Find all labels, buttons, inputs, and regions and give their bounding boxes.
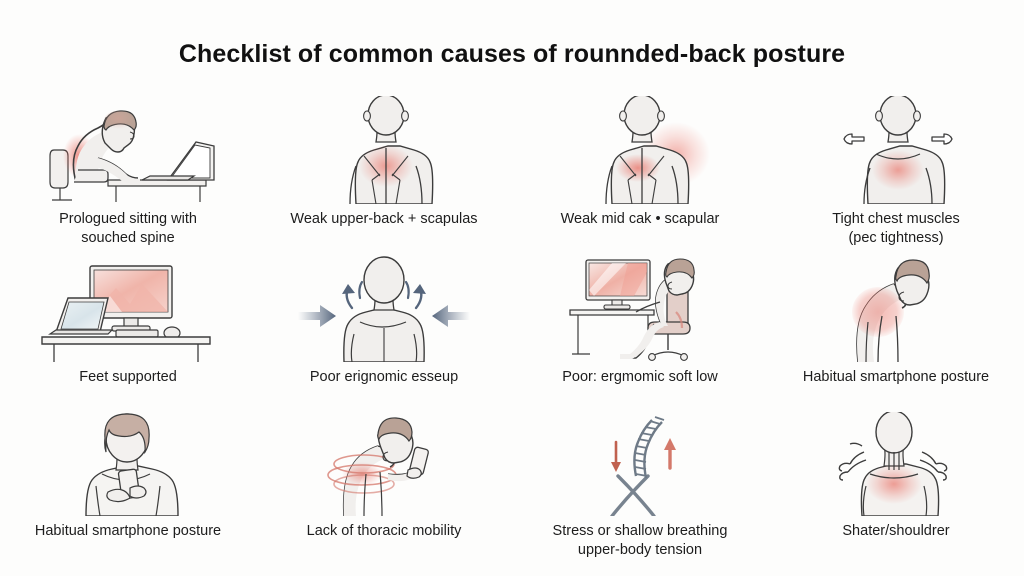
checklist-item-habitual-smartphone-posture-1: Habitual smartphone posture bbox=[768, 254, 1024, 412]
checklist-item-caption: Weak upper-back + scapulas bbox=[290, 210, 477, 229]
desk-with-monitor-and-laptop-icon bbox=[38, 254, 218, 362]
phone-side-profile-red-rings-icon bbox=[294, 412, 474, 516]
person-holding-phone-front-icon bbox=[38, 412, 218, 516]
back-view-mid-back-highlight-icon bbox=[550, 96, 730, 204]
checklist-item-poor-ergonomic-setup: Poor erignomic esseup bbox=[256, 254, 512, 412]
checklist-item-caption: Prologued sitting with souched spine bbox=[59, 210, 197, 248]
checklist-item-weak-upper-back: Weak upper-back + scapulas bbox=[256, 96, 512, 254]
checklist-item-caption: Poor: ergmomic soft low bbox=[562, 368, 718, 387]
checklist-item-caption: Habitual smartphone posture bbox=[803, 368, 989, 387]
checklist-item-caption: Stress or shallow breathing upper-body t… bbox=[553, 522, 728, 560]
checklist-item-prolonged-sitting: Prologued sitting with souched spine bbox=[0, 96, 256, 254]
checklist-item-caption: Lack of thoracic mobility bbox=[307, 522, 462, 541]
checklist-item-caption: Habitual smartphone posture bbox=[35, 522, 221, 541]
checklist-item-caption: Tight chest muscles (pec tightness) bbox=[832, 210, 960, 248]
checklist-item-feet-supported: Feet supported bbox=[0, 254, 256, 412]
checklist-item-caption: Shater/shouldrer bbox=[842, 522, 949, 541]
person-slouching-at-desk-icon bbox=[38, 96, 218, 204]
checklist-item-caption: Feet supported bbox=[79, 368, 177, 387]
checklist-item-caption: Poor erignomic esseup bbox=[310, 368, 458, 387]
front-view-chest-tightness-icon bbox=[806, 96, 986, 204]
shoulders-compression-arrows-icon bbox=[294, 254, 474, 362]
hunched-side-profile-icon bbox=[806, 254, 986, 362]
checklist-item-lack-thoracic-mobility: Lack of thoracic mobility bbox=[256, 412, 512, 572]
checklist-item-habitual-smartphone-posture-2: Habitual smartphone posture bbox=[0, 412, 256, 572]
checklist-item-poor-ergonomic-seat: Poor: ergmomic soft low bbox=[512, 254, 768, 412]
checklist-item-weak-mid-back: Weak mid cak • scapular bbox=[512, 96, 768, 254]
page-title: Checklist of common causes of rounnded-b… bbox=[0, 40, 1024, 69]
checklist-grid: Prologued sitting with souched spine bbox=[0, 96, 1024, 576]
neck-shoulder-tension-icon bbox=[806, 412, 986, 516]
checklist-item-tight-chest: Tight chest muscles (pec tightness) bbox=[768, 96, 1024, 254]
checklist-item-shoulder-tension: Shater/shouldrer bbox=[768, 412, 1024, 572]
checklist-item-caption: Weak mid cak • scapular bbox=[561, 210, 720, 229]
back-view-upper-back-highlight-icon bbox=[294, 96, 474, 204]
person-seated-at-desk-side-icon bbox=[550, 254, 730, 362]
spine-with-arrows-icon bbox=[550, 412, 730, 516]
checklist-item-stress-shallow-breathing: Stress or shallow breathing upper-body t… bbox=[512, 412, 768, 572]
